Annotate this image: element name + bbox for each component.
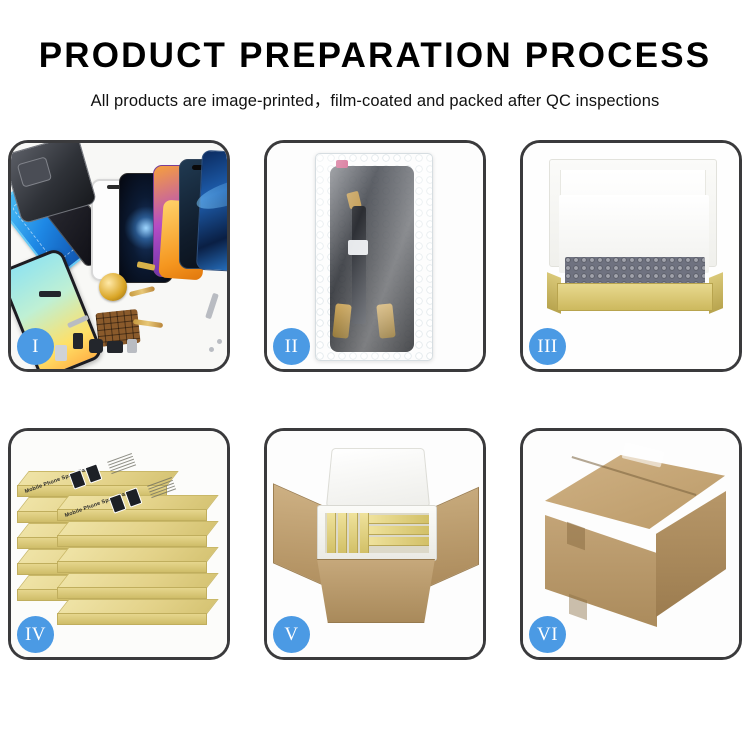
retail-box: [57, 547, 207, 573]
yellow-box-slab: [349, 513, 358, 553]
page-subtitle: All products are image-printed，film-coat…: [0, 87, 750, 111]
small-part: [127, 339, 137, 353]
pink-qc-label: [336, 160, 348, 168]
flex-cable-part: [129, 286, 155, 297]
step-badge-5: V: [273, 616, 310, 653]
step-badge-4: IV: [17, 616, 54, 653]
step-panel-5: V: [264, 428, 486, 660]
small-part: [39, 291, 61, 297]
step-badge-2: II: [273, 328, 310, 365]
retail-box: [57, 521, 207, 547]
step-badge-1: I: [17, 328, 54, 365]
retail-box: [57, 573, 207, 599]
step-panel-3: III: [520, 140, 742, 372]
flex-cable: [352, 206, 366, 324]
gold-contact-right: [376, 303, 395, 338]
page-title: PRODUCT PREPARATION PROCESS: [0, 38, 750, 75]
yellow-box-slab: [369, 537, 429, 546]
step-badge-6: VI: [529, 616, 566, 653]
gold-coil-part: [99, 273, 127, 301]
step-panel-1: I: [8, 140, 230, 372]
step-panel-2: II: [264, 140, 486, 372]
screw-part: [217, 339, 222, 344]
product-preparation-page: PRODUCT PREPARATION PROCESS All products…: [0, 0, 750, 750]
small-part: [89, 339, 103, 353]
yellow-box-front: [557, 283, 713, 311]
packed-yellow-boxes: [325, 513, 429, 553]
screwdriver-part: [205, 293, 219, 320]
small-part: [55, 345, 67, 361]
bubble-wrap-bag: [315, 153, 433, 361]
carton-body: [309, 559, 443, 623]
page-header: PRODUCT PREPARATION PROCESS All products…: [0, 0, 750, 111]
yellow-box-slab: [327, 513, 336, 553]
step-panel-6: VI: [520, 428, 742, 660]
step-badge-3: III: [529, 328, 566, 365]
driver-chip: [348, 240, 368, 255]
yellow-box-slab: [360, 513, 369, 553]
retail-box: [57, 599, 207, 625]
process-step-grid: I II: [8, 140, 742, 685]
small-part: [107, 341, 123, 353]
small-part: [73, 333, 83, 349]
yellow-box-slab: [369, 515, 429, 524]
blue-swirl-phone: [196, 150, 227, 272]
step-panel-4: Mobile Phone Spare Parts Mobile Phone Sp…: [8, 428, 230, 660]
box-stack: Mobile Phone Spare Parts Mobile Phone Sp…: [13, 443, 227, 643]
yellow-box-slab: [338, 513, 347, 553]
screw-part: [209, 347, 214, 352]
yellow-box-slab: [369, 526, 429, 535]
carton-front-face: [545, 515, 657, 627]
foam-box-lid: [326, 448, 430, 507]
